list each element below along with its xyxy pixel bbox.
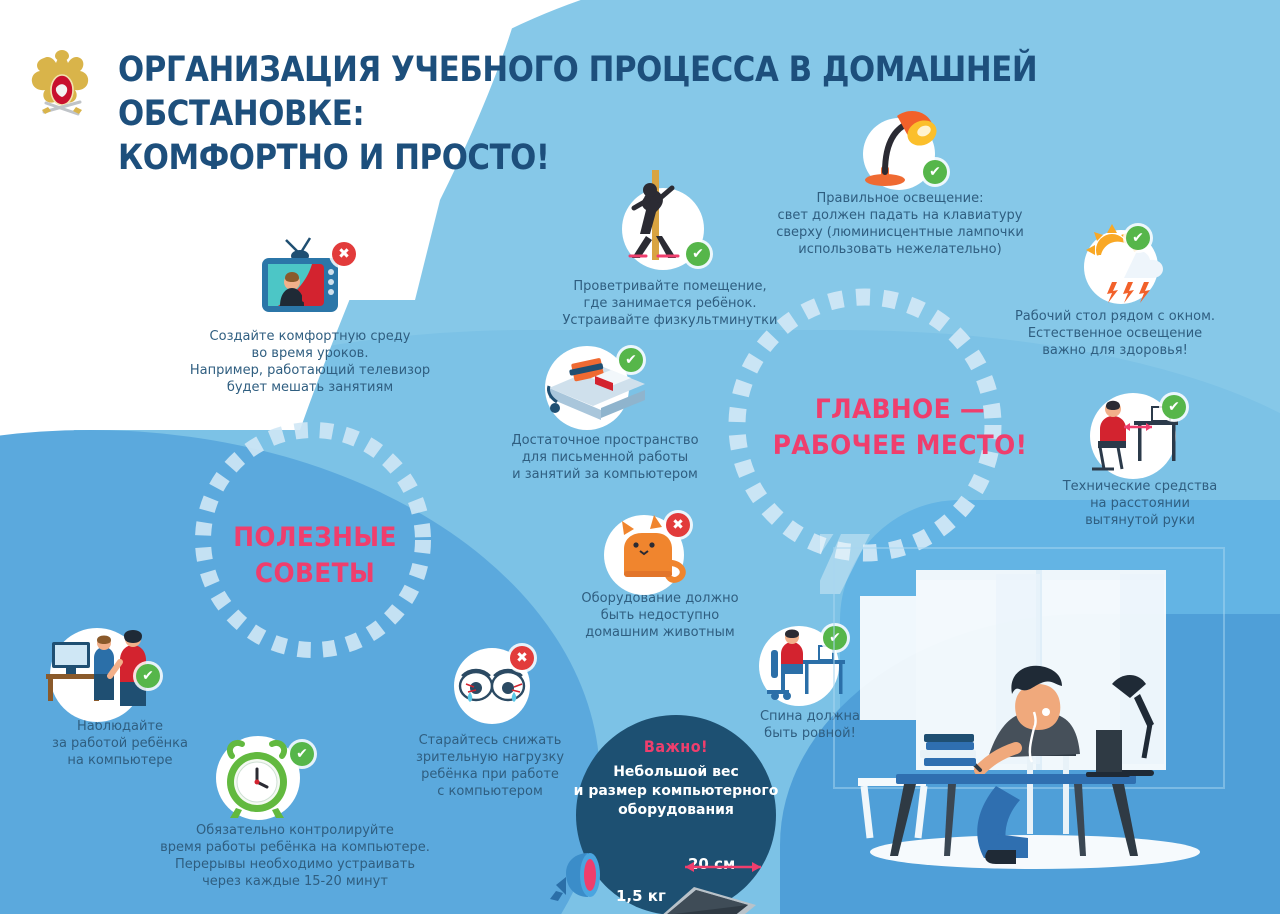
tip-time-text: Обязательно контролируйте время работы р…: [150, 822, 440, 890]
tip-tv-icon-group: ✖: [248, 232, 368, 328]
important-title: Важно!: [586, 737, 766, 756]
tip-reach-icon-group: ✔: [1078, 385, 1198, 480]
cat-icon: [590, 505, 710, 595]
tip-ventilate-text: Проветривайте помещение, где занимается …: [540, 278, 800, 329]
tip-time: Обязательно контролируйте время работы р…: [150, 822, 440, 890]
tip-supervise-text: Наблюдайте за работой ребёнка на компьют…: [20, 718, 220, 769]
tip-reach-text: Технические средства на расстоянии вытян…: [1040, 478, 1240, 529]
tip-lighting-icon-group: ✔: [845, 100, 955, 190]
tip-ventilate-icon-group: ✔: [600, 170, 730, 275]
tip-supervise: Наблюдайте за работой ребёнка на компьют…: [20, 718, 220, 769]
megaphone-icon: [548, 845, 622, 907]
parent-child-computer-icon: [28, 612, 178, 717]
badge-ok-icon: ✔: [1126, 226, 1150, 250]
infographic-poster: Организация учебного процесса в домашней…: [0, 0, 1280, 914]
important-body: Небольшой вес и размер компьютерного обо…: [562, 763, 790, 820]
tip-eyes-text: Старайтесь снижать зрительную нагрузку р…: [400, 732, 580, 800]
tip-window: Рабочий стол рядом с окном. Естественное…: [990, 308, 1240, 359]
header: Организация учебного процесса в домашней…: [0, 0, 1280, 160]
badge-ok-icon: ✔: [136, 664, 160, 688]
tip-lighting-text: Правильное освещение: свет должен падать…: [740, 190, 1060, 258]
tip-tv: Создайте комфортную среду во время уроко…: [180, 328, 440, 396]
badge-no-icon: ✖: [332, 242, 356, 266]
tip-ventilate: Проветривайте помещение, где занимается …: [540, 278, 800, 329]
badge-ok-icon: ✔: [686, 242, 710, 266]
badge-no-icon: ✖: [666, 513, 690, 537]
badge-ok-icon: ✔: [1162, 395, 1186, 419]
tip-tv-text: Создайте комфортную среду во время уроко…: [180, 328, 440, 396]
tip-space-icon-group: ✔: [525, 340, 665, 435]
badge-ok-icon: ✔: [290, 742, 314, 766]
tip-pets: Оборудование должно быть недоступно дома…: [560, 590, 760, 641]
tip-eyes: Старайтесь снижать зрительную нагрузку р…: [400, 732, 580, 800]
width-dimension-arrow: [681, 855, 771, 879]
alarm-clock-icon: [200, 728, 330, 828]
tip-space-text: Достаточное пространство для письменной …: [490, 432, 720, 483]
tip-time-icon-group: ✔: [200, 728, 330, 828]
tip-pets-icon-group: ✖: [590, 505, 710, 595]
workspace-desk-icon: [525, 340, 665, 435]
section-heading-main: Главное — рабочее место!: [753, 392, 1047, 464]
stretching-person-icon: [600, 170, 730, 275]
badge-no-icon: ✖: [510, 646, 534, 670]
tip-lighting: Правильное освещение: свет должен падать…: [740, 190, 1060, 258]
tip-window-text: Рабочий стол рядом с окном. Естественное…: [990, 308, 1240, 359]
boy-studying-at-desk-illustration: [820, 534, 1240, 904]
tablet-icon: [654, 873, 764, 914]
tip-reach: Технические средства на расстоянии вытян…: [1040, 478, 1240, 529]
badge-ok-icon: ✔: [923, 160, 947, 184]
section-heading-tips: Полезные советы: [200, 520, 430, 592]
tip-supervise-icon-group: ✔: [28, 612, 178, 717]
tip-window-icon-group: ✔: [1060, 218, 1200, 308]
tip-eyes-icon-group: ✖: [440, 638, 550, 730]
russian-federation-coat-of-arms: [24, 46, 100, 128]
tip-pets-text: Оборудование должно быть недоступно дома…: [560, 590, 760, 641]
badge-ok-icon: ✔: [619, 348, 643, 372]
tired-eyes-icon: [440, 638, 550, 730]
tip-space: Достаточное пространство для письменной …: [490, 432, 720, 483]
